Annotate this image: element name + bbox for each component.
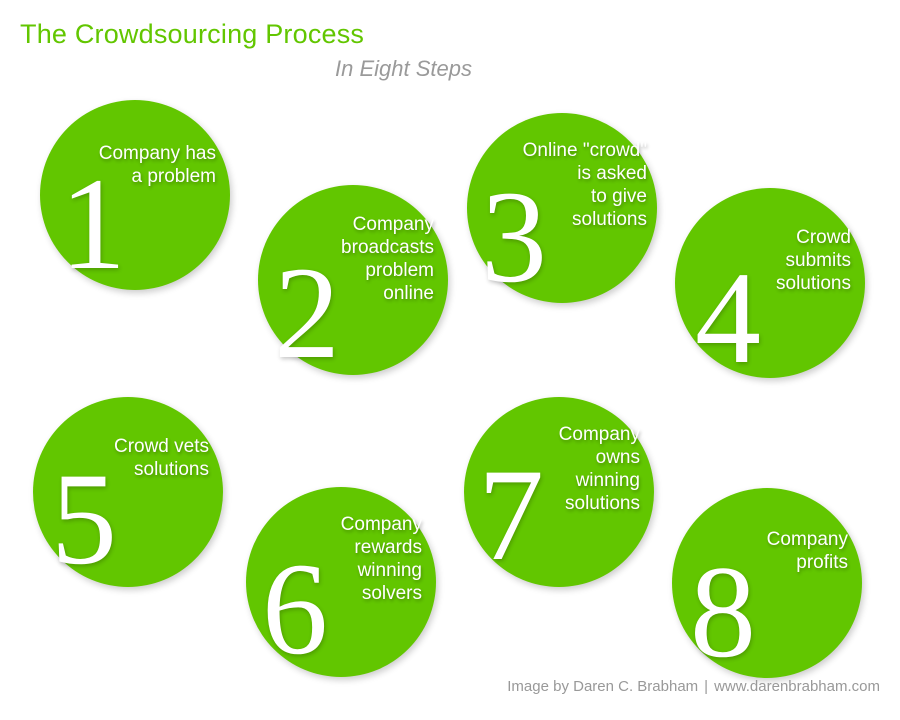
step-7[interactable]: 7 Company owns winning solutions <box>464 397 654 587</box>
steps-container: 1 Company has a problem 2 Company broadc… <box>0 0 900 720</box>
step-label-line: winning <box>272 559 422 582</box>
credit-website[interactable]: www.darenbrabham.com <box>714 678 880 695</box>
step-label-line: solutions <box>701 272 851 295</box>
step-label: Company has a problem <box>66 142 216 188</box>
step-label: Crowd submits solutions <box>701 226 851 295</box>
step-circle <box>40 100 230 290</box>
step-label-line: to give <box>489 185 647 208</box>
step-label: Company rewards winning solvers <box>272 513 422 605</box>
step-label: Company owns winning solutions <box>490 423 640 515</box>
step-label-line: Crowd <box>701 226 851 249</box>
credit-line: Image by Daren C. Brabham|www.darenbrabh… <box>0 678 880 695</box>
step-4[interactable]: 4 Crowd submits solutions <box>675 188 865 378</box>
step-5[interactable]: 5 Crowd vets solutions <box>33 397 223 587</box>
step-circle <box>672 488 862 678</box>
step-label-line: a problem <box>66 165 216 188</box>
step-1[interactable]: 1 Company has a problem <box>40 100 230 290</box>
crowdsourcing-process-infographic: The Crowdsourcing Process In Eight Steps… <box>0 0 900 720</box>
credit-separator: | <box>698 678 714 695</box>
step-label-line: Online "crowd" <box>489 139 647 162</box>
step-label-line: Company <box>490 423 640 446</box>
step-label-line: solutions <box>490 492 640 515</box>
step-circle <box>33 397 223 587</box>
step-label-line: Company <box>284 213 434 236</box>
step-3[interactable]: 3 Online "crowd" is asked to give soluti… <box>467 113 657 303</box>
step-label-line: solvers <box>272 582 422 605</box>
step-label-line: owns <box>490 446 640 469</box>
step-2[interactable]: 2 Company broadcasts problem online <box>258 185 448 375</box>
step-label-line: rewards <box>272 536 422 559</box>
step-label: Company broadcasts problem online <box>284 213 434 305</box>
step-label-line: Company has <box>66 142 216 165</box>
step-label-line: online <box>284 282 434 305</box>
step-label-line: Crowd vets <box>59 435 209 458</box>
step-label-line: solutions <box>489 208 647 231</box>
step-label-line: winning <box>490 469 640 492</box>
step-label-line: solutions <box>59 458 209 481</box>
step-label-line: Company <box>698 528 848 551</box>
step-label: Online "crowd" is asked to give solution… <box>489 139 647 231</box>
step-6[interactable]: 6 Company rewards winning solvers <box>246 487 436 677</box>
credit-attribution: Image by Daren C. Brabham <box>507 678 698 695</box>
step-label-line: Company <box>272 513 422 536</box>
step-label-line: broadcasts <box>284 236 434 259</box>
step-label: Crowd vets solutions <box>59 435 209 481</box>
step-label: Company profits <box>698 528 848 574</box>
step-label-line: problem <box>284 259 434 282</box>
step-label-line: profits <box>698 551 848 574</box>
step-8[interactable]: 8 Company profits <box>672 488 862 678</box>
step-label-line: is asked <box>489 162 647 185</box>
step-label-line: submits <box>701 249 851 272</box>
